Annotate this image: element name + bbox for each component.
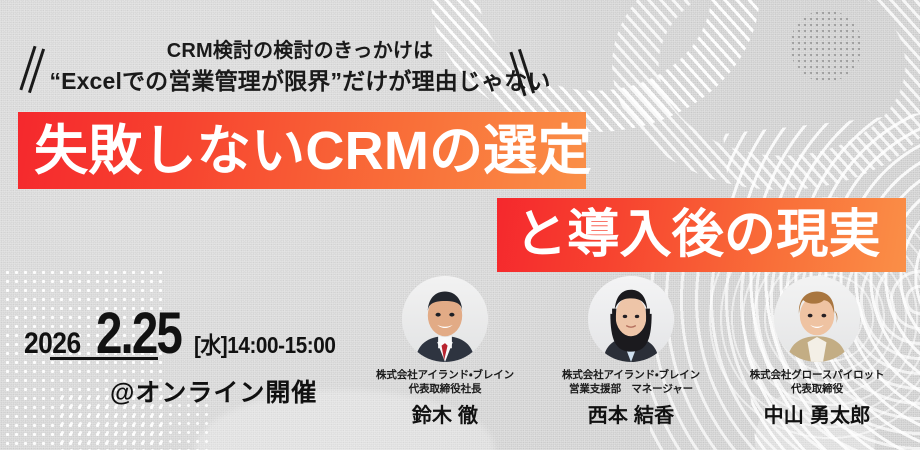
speaker-card: 株式会社アイランド・ブレイン 代表取締役社長 鈴木 徹: [352, 276, 538, 428]
event-venue: @オンライン開催: [110, 373, 351, 409]
speaker-role: 代表取締役: [791, 382, 843, 396]
avatar: [588, 276, 674, 362]
event-time: [水]14:00-15:00: [194, 326, 335, 360]
speaker-role: 営業支援部 マネージャー: [569, 382, 693, 396]
title-banner-primary-text: 失敗しないCRMの選定: [34, 124, 592, 178]
speaker-org: 株式会社アイランド・ブレイン: [562, 368, 700, 382]
event-year: 2026: [24, 327, 81, 361]
speaker-card: 株式会社グロースパイロット 代表取締役 中山 勇太郎: [724, 276, 910, 428]
date-underline-rule: [50, 357, 158, 360]
speaker-name: 中山 勇太郎: [764, 399, 871, 428]
event-date-block: 2026 2.25 [水]14:00-15:00 @オンライン開催: [24, 300, 351, 409]
speaker-org: 株式会社アイランド・ブレイン: [376, 368, 514, 382]
lead-copy: CRM検討の検討のきっかけは “Excelでの営業管理が限界”だけが理由じゃない: [0, 38, 600, 97]
speaker-role: 代表取締役社長: [409, 382, 482, 396]
speaker-name: 西本 結香: [588, 399, 675, 428]
avatar: [402, 276, 488, 362]
speaker-name: 鈴木 徹: [412, 399, 478, 428]
webinar-banner: CRM検討の検討のきっかけは “Excelでの営業管理が限界”だけが理由じゃない…: [0, 0, 920, 450]
speaker-list: 株式会社アイランド・ブレイン 代表取締役社長 鈴木 徹: [352, 276, 912, 428]
speaker-org: 株式会社グロースパイロット: [750, 368, 885, 382]
title-banner-secondary: と導入後の現実: [497, 198, 906, 272]
speaker-card: 株式会社アイランド・ブレイン 営業支援部 マネージャー 西本 結香: [538, 276, 724, 428]
title-banner-secondary-text: と導入後の現実: [515, 209, 881, 261]
lead-copy-line-2: “Excelでの営業管理が限界”だけが理由じゃない: [0, 66, 600, 98]
dotted-circle-icon: [790, 10, 862, 82]
avatar: [774, 276, 860, 362]
title-banner-primary: 失敗しないCRMの選定: [18, 112, 586, 189]
lead-copy-line-1: CRM検討の検討のきっかけは: [0, 38, 600, 66]
